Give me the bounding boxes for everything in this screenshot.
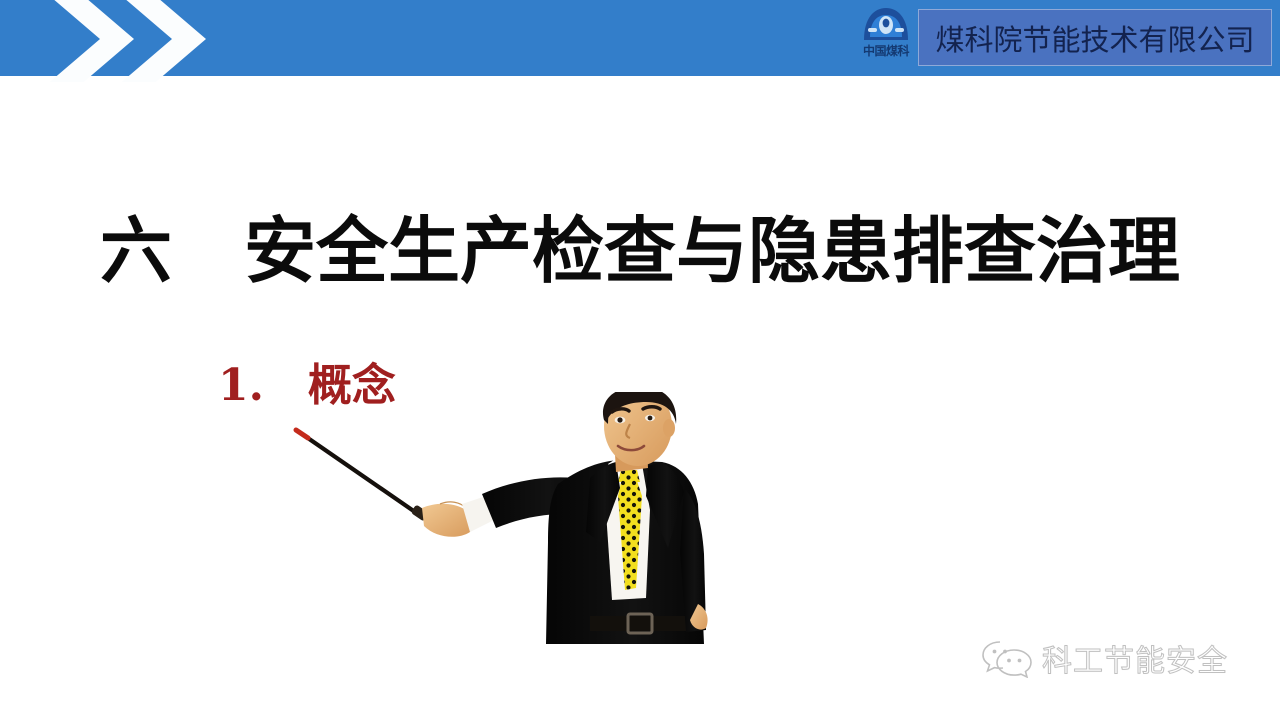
company-name-box: 煤科院节能技术有限公司 [918,9,1272,66]
page-title: 六 安全生产检查与隐患排查治理 [0,208,1280,294]
slide: 中国煤科 煤科院节能技术有限公司 六 安全生产检查与隐患排查治理 1. 概念 [0,0,1280,720]
company-name: 煤科院节能技术有限公司 [935,17,1254,59]
wechat-icon [982,638,1032,678]
pointer-stick [296,430,429,522]
presenter-figure [290,392,730,654]
double-chevron-right-icon [38,0,208,82]
company-logo-caption: 中国煤科 [852,44,920,58]
presenter-head [603,392,676,466]
china-coal-logo-icon [860,6,912,44]
company-logo: 中国煤科 [852,6,920,70]
wechat-watermark: 科工节能安全 [982,634,1246,682]
wechat-account-name: 科工节能安全 [1042,636,1228,680]
header-band: 中国煤科 煤科院节能技术有限公司 [0,0,1280,76]
